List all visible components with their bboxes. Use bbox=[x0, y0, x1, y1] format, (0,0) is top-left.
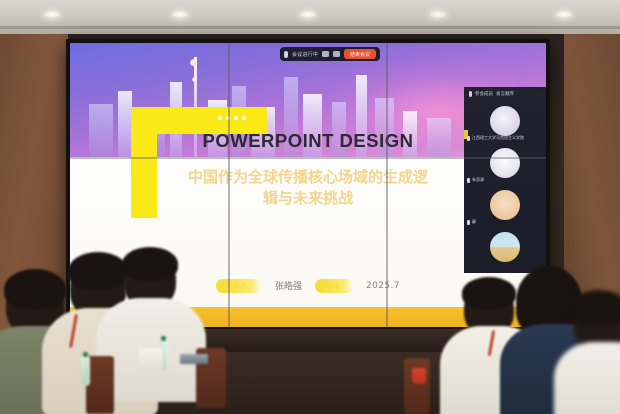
avatar bbox=[490, 190, 520, 220]
panel-seam bbox=[228, 43, 230, 327]
panel-seam bbox=[70, 157, 546, 159]
microphone-icon[interactable] bbox=[284, 51, 288, 58]
participant-tile[interactable] bbox=[464, 226, 546, 268]
date-value: 2025.7 bbox=[366, 281, 400, 291]
ceiling-light bbox=[172, 11, 188, 18]
chair bbox=[404, 358, 430, 414]
participant-tile[interactable]: 江西理工大学马克思主义学院 bbox=[464, 100, 546, 142]
ceiling-rail bbox=[0, 26, 620, 29]
conference-room-photo: POWERPOINT DESIGN 中国作为全球传播核心场域的生成逻 辑与未来挑… bbox=[0, 0, 620, 414]
camera-icon[interactable] bbox=[322, 51, 329, 57]
meeting-status-label: 会议进行中 bbox=[292, 51, 318, 58]
ceiling-light bbox=[300, 11, 316, 18]
presenter-chip: 汇报人 bbox=[216, 279, 262, 293]
end-meeting-button[interactable]: 结束会议 bbox=[344, 49, 376, 59]
slide-subtitle-line-2: 辑与未来挑战 bbox=[146, 188, 470, 210]
avatar bbox=[490, 106, 520, 136]
ceiling-light bbox=[430, 11, 446, 18]
ceiling-light bbox=[44, 11, 60, 18]
microphone-icon bbox=[469, 91, 472, 97]
laptop bbox=[180, 354, 208, 364]
avatar bbox=[490, 232, 520, 262]
red-cup bbox=[412, 368, 426, 384]
participant-panel-header: 参会成员 发言顺序 ··· bbox=[464, 87, 546, 100]
participant-tile[interactable]: 静 bbox=[464, 184, 546, 226]
share-screen-icon[interactable] bbox=[333, 51, 340, 57]
date-chip: 时间 bbox=[315, 279, 353, 293]
participant-panel-title: 参会成员 bbox=[475, 91, 493, 97]
slide-subtitle-line-1: 中国作为全球传播核心场域的生成逻 bbox=[146, 167, 470, 189]
chair bbox=[86, 356, 114, 414]
participant-name: 朱思源 bbox=[472, 177, 484, 183]
more-options-icon[interactable]: ··· bbox=[537, 92, 542, 97]
participant-name-row: 朱思源 bbox=[467, 177, 484, 183]
avatar bbox=[490, 148, 520, 178]
participant-name: 静 bbox=[472, 219, 476, 225]
meeting-toolbar[interactable]: 会议进行中 结束会议 bbox=[280, 47, 380, 61]
slide-subtitle: 中国作为全球传播核心场域的生成逻 辑与未来挑战 bbox=[146, 167, 470, 211]
decor-dots bbox=[218, 116, 246, 120]
participant-panel[interactable]: 参会成员 发言顺序 ··· 江西理工大学马克思主义学院 bbox=[464, 87, 546, 273]
participant-tile[interactable]: 朱思源 bbox=[464, 142, 546, 184]
paper-stack bbox=[139, 348, 163, 370]
participant-name: 江西理工大学马克思主义学院 bbox=[472, 135, 524, 141]
microphone-icon bbox=[467, 178, 470, 183]
participant-panel-subtitle: 发言顺序 bbox=[496, 91, 514, 97]
microphone-icon bbox=[467, 220, 470, 225]
panel-seam bbox=[386, 43, 388, 327]
microphone-icon bbox=[467, 136, 470, 141]
participant-name-row: 江西理工大学马克思主义学院 bbox=[467, 135, 524, 141]
presenter-name: 张皓强 bbox=[275, 279, 302, 292]
ceiling-light bbox=[556, 11, 572, 18]
water-bottle bbox=[81, 356, 90, 386]
participant-name-row: 静 bbox=[467, 219, 476, 225]
ceiling bbox=[0, 0, 620, 34]
